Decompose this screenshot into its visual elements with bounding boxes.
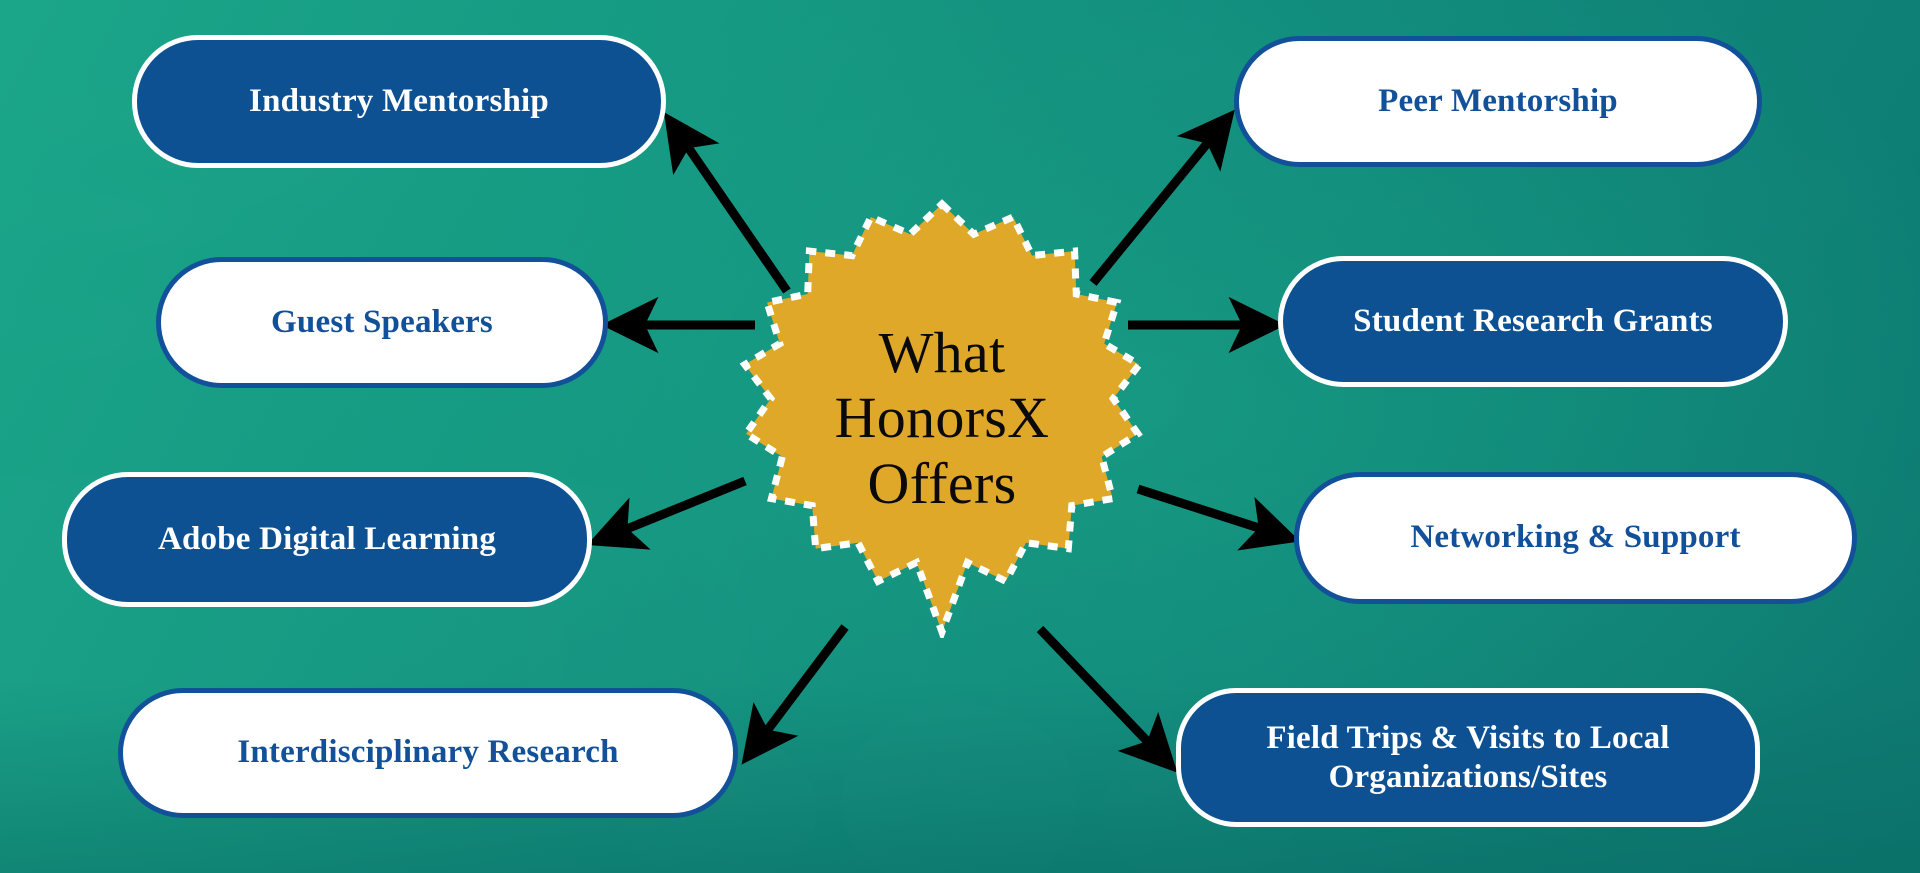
node-field-trips[interactable]: Field Trips & Visits to Local Organizati…: [1176, 688, 1760, 827]
node-label-line-1: Field Trips & Visits to Local: [1266, 720, 1669, 756]
node-industry-mentorship[interactable]: Industry Mentorship: [132, 35, 666, 168]
node-label: Student Research Grants: [1353, 302, 1713, 342]
node-interdisciplinary-research[interactable]: Interdisciplinary Research: [118, 688, 738, 818]
node-label: Peer Mentorship: [1378, 82, 1618, 122]
node-label: Field Trips & Visits to Local Organizati…: [1266, 719, 1669, 797]
infographic-canvas: What HonorsX Offers Industry Mentorship …: [0, 0, 1920, 873]
node-student-research-grants[interactable]: Student Research Grants: [1278, 256, 1788, 387]
node-label: Adobe Digital Learning: [158, 520, 496, 560]
what-honorsx-offers-burst[interactable]: What HonorsX Offers: [722, 198, 1162, 638]
arrow-to-interdisciplinary-research: [748, 627, 845, 756]
node-label: Industry Mentorship: [249, 82, 549, 122]
node-guest-speakers[interactable]: Guest Speakers: [156, 257, 608, 388]
node-networking-support[interactable]: Networking & Support: [1294, 472, 1857, 604]
node-label: Networking & Support: [1410, 518, 1740, 558]
node-adobe-digital-learning[interactable]: Adobe Digital Learning: [62, 472, 592, 607]
starburst-shape: [722, 198, 1162, 638]
node-label-line-2: Organizations/Sites: [1329, 759, 1608, 795]
arrow-to-field-trips: [1040, 629, 1170, 765]
node-label: Interdisciplinary Research: [237, 733, 618, 773]
node-label: Guest Speakers: [271, 303, 493, 343]
node-peer-mentorship[interactable]: Peer Mentorship: [1234, 36, 1762, 167]
